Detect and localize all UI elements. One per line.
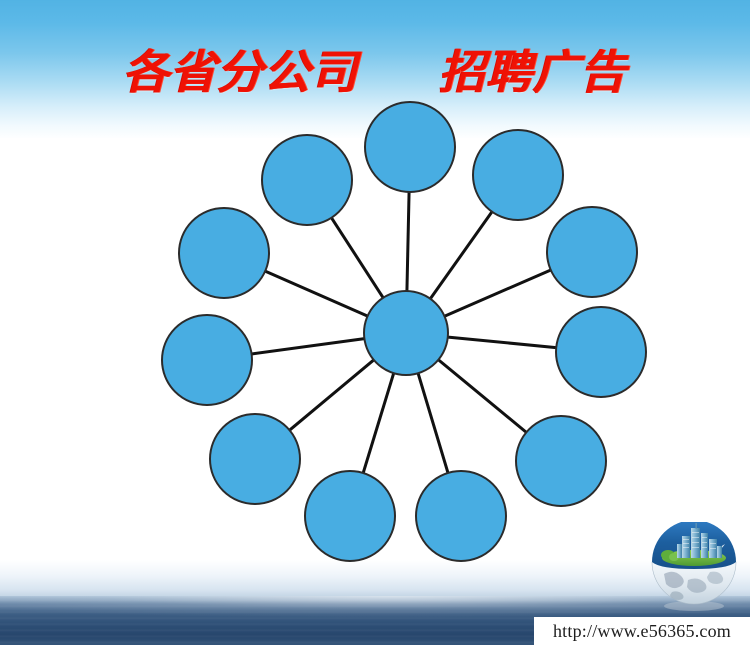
satellite-node-4[interactable] bbox=[556, 307, 646, 397]
satellite-node-9[interactable] bbox=[162, 315, 252, 405]
satellite-node-3[interactable] bbox=[547, 207, 637, 297]
satellite-circle-4[interactable] bbox=[556, 307, 646, 397]
globe-city-logo bbox=[644, 522, 744, 614]
watermark-url: http://www.e56365.com bbox=[553, 621, 731, 642]
satellite-node-8[interactable] bbox=[210, 414, 300, 504]
slide-canvas: 各省分公司 招聘广告 bbox=[0, 0, 750, 645]
spoke-line-11 bbox=[331, 217, 384, 299]
satellite-circle-3[interactable] bbox=[547, 207, 637, 297]
hub-node[interactable] bbox=[364, 291, 448, 375]
spoke-line-1 bbox=[407, 191, 409, 292]
satellite-circle-8[interactable] bbox=[210, 414, 300, 504]
satellite-node-2[interactable] bbox=[473, 130, 563, 220]
satellite-circle-5[interactable] bbox=[516, 416, 606, 506]
satellite-circle-11[interactable] bbox=[262, 135, 352, 225]
satellite-node-10[interactable] bbox=[179, 208, 269, 298]
satellite-node-1[interactable] bbox=[365, 102, 455, 192]
node-circles bbox=[162, 102, 646, 561]
satellite-node-11[interactable] bbox=[262, 135, 352, 225]
hub-and-spoke-diagram bbox=[0, 0, 750, 645]
satellite-node-6[interactable] bbox=[416, 471, 506, 561]
satellite-circle-1[interactable] bbox=[365, 102, 455, 192]
satellite-circle-9[interactable] bbox=[162, 315, 252, 405]
spoke-line-6 bbox=[418, 372, 449, 474]
hub-circle[interactable] bbox=[364, 291, 448, 375]
spoke-line-3 bbox=[444, 270, 552, 317]
satellite-circle-6[interactable] bbox=[416, 471, 506, 561]
watermark-box: http://www.e56365.com bbox=[534, 617, 750, 645]
spoke-line-2 bbox=[430, 211, 493, 300]
spoke-line-10 bbox=[264, 271, 368, 317]
satellite-circle-7[interactable] bbox=[305, 471, 395, 561]
spoke-line-8 bbox=[289, 359, 375, 431]
satellite-circle-2[interactable] bbox=[473, 130, 563, 220]
satellite-node-5[interactable] bbox=[516, 416, 606, 506]
spoke-line-4 bbox=[447, 337, 557, 348]
spoke-line-7 bbox=[363, 372, 394, 474]
spoke-line-9 bbox=[251, 339, 366, 355]
satellite-circle-10[interactable] bbox=[179, 208, 269, 298]
spoke-line-5 bbox=[438, 359, 527, 433]
satellite-node-7[interactable] bbox=[305, 471, 395, 561]
